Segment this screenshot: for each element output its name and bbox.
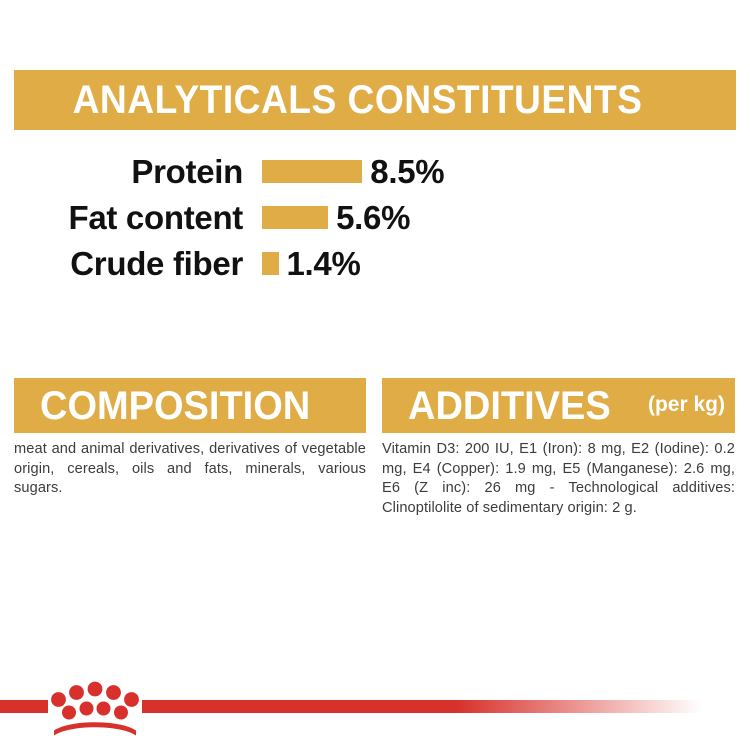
constituent-bar-group: 5.6% [262,201,410,234]
constituent-bar-group: 8.5% [262,155,444,188]
constituent-bar [262,206,328,229]
additives-unit-label: (per kg) [648,394,725,417]
page-title: ANALYTICALS CONSTITUENTS [14,80,642,120]
composition-text: meat and animal derivatives, derivatives… [14,433,366,499]
footer-rule-left [0,700,48,713]
constituent-label: Crude fiber [0,247,262,280]
composition-header-bar: COMPOSITION [14,378,366,433]
additives-header-bar: ADDITIVES (per kg) [382,378,735,433]
analytical-constituents-chart: Protein 8.5% Fat content 5.6% Crude fibe… [0,148,520,286]
royal-canin-crown-logo [48,678,142,736]
constituent-value: 5.6% [328,201,410,234]
constituent-label: Protein [0,155,262,188]
constituent-label: Fat content [0,201,262,234]
composition-panel: COMPOSITION meat and animal derivatives,… [14,378,366,499]
constituent-row-protein: Protein 8.5% [0,148,520,194]
constituent-bar-group: 1.4% [262,247,361,280]
brand-footer [0,670,750,750]
additives-text: Vitamin D3: 200 IU, E1 (Iron): 8 mg, E2 … [382,433,735,518]
constituent-bar [262,252,279,275]
additives-panel: ADDITIVES (per kg) Vitamin D3: 200 IU, E… [382,378,735,518]
constituent-value: 1.4% [279,247,361,280]
additives-title: ADDITIVES [408,386,611,426]
constituent-row-crude-fiber: Crude fiber 1.4% [0,240,520,286]
constituent-bar [262,160,362,183]
constituent-row-fat-content: Fat content 5.6% [0,194,520,240]
nutrition-label-page: ANALYTICALS CONSTITUENTS Protein 8.5% Fa… [0,0,750,750]
footer-rule-right [142,700,702,713]
analytical-constituents-header-bar: ANALYTICALS CONSTITUENTS [14,70,736,130]
composition-title: COMPOSITION [40,386,310,426]
constituent-value: 8.5% [362,155,444,188]
